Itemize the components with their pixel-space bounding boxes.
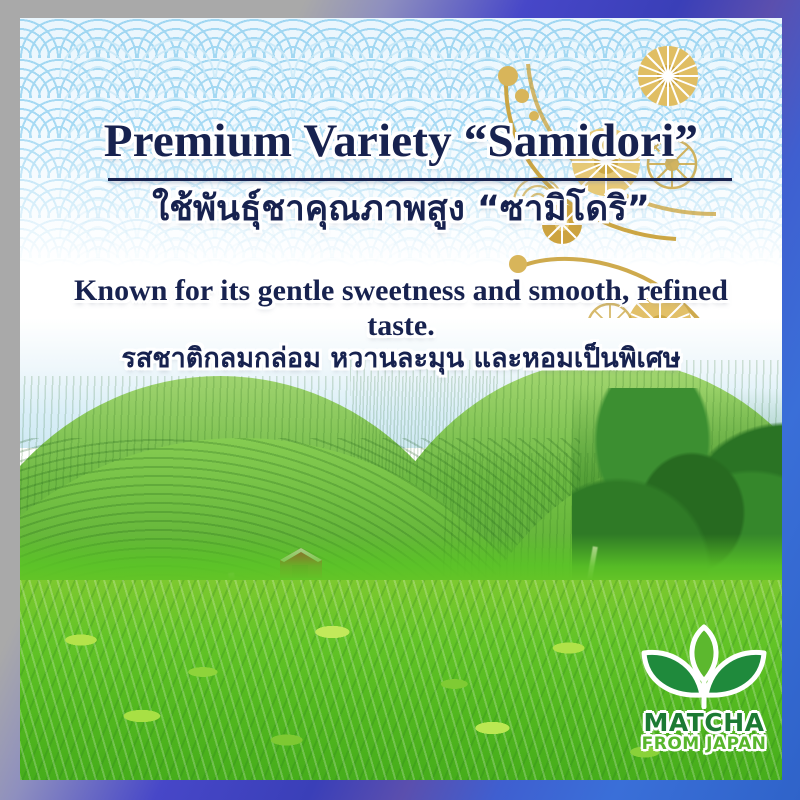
brand-logo[interactable]: MATCHA FROM JAPAN	[634, 623, 774, 758]
foreground-blend	[20, 534, 782, 580]
brand-tagline-from-japan: FROM JAPAN	[634, 736, 774, 753]
brand-name-matcha: MATCHA	[634, 710, 774, 736]
description-thai: รสชาติกลมกล่อม หวานละมุน และหอมเป็นพิเศษ	[20, 343, 782, 375]
title-underline	[108, 178, 732, 181]
three-tea-leaves-icon	[634, 623, 774, 709]
page-title-thai: ใช้พันธุ์ชาคุณภาพสูง “ซามิโดริ”	[20, 188, 782, 232]
page-title-english: Premium Variety “Samidori”	[20, 118, 782, 165]
text-block: Premium Variety “Samidori” ใช้พันธุ์ชาคุ…	[20, 18, 782, 418]
description-english: Known for its gentle sweetness and smoot…	[20, 273, 782, 343]
poster-card: Premium Variety “Samidori” ใช้พันธุ์ชาคุ…	[20, 18, 782, 780]
brand-wordmark: MATCHA FROM JAPAN	[634, 710, 774, 753]
poster-frame: Premium Variety “Samidori” ใช้พันธุ์ชาคุ…	[0, 0, 800, 800]
